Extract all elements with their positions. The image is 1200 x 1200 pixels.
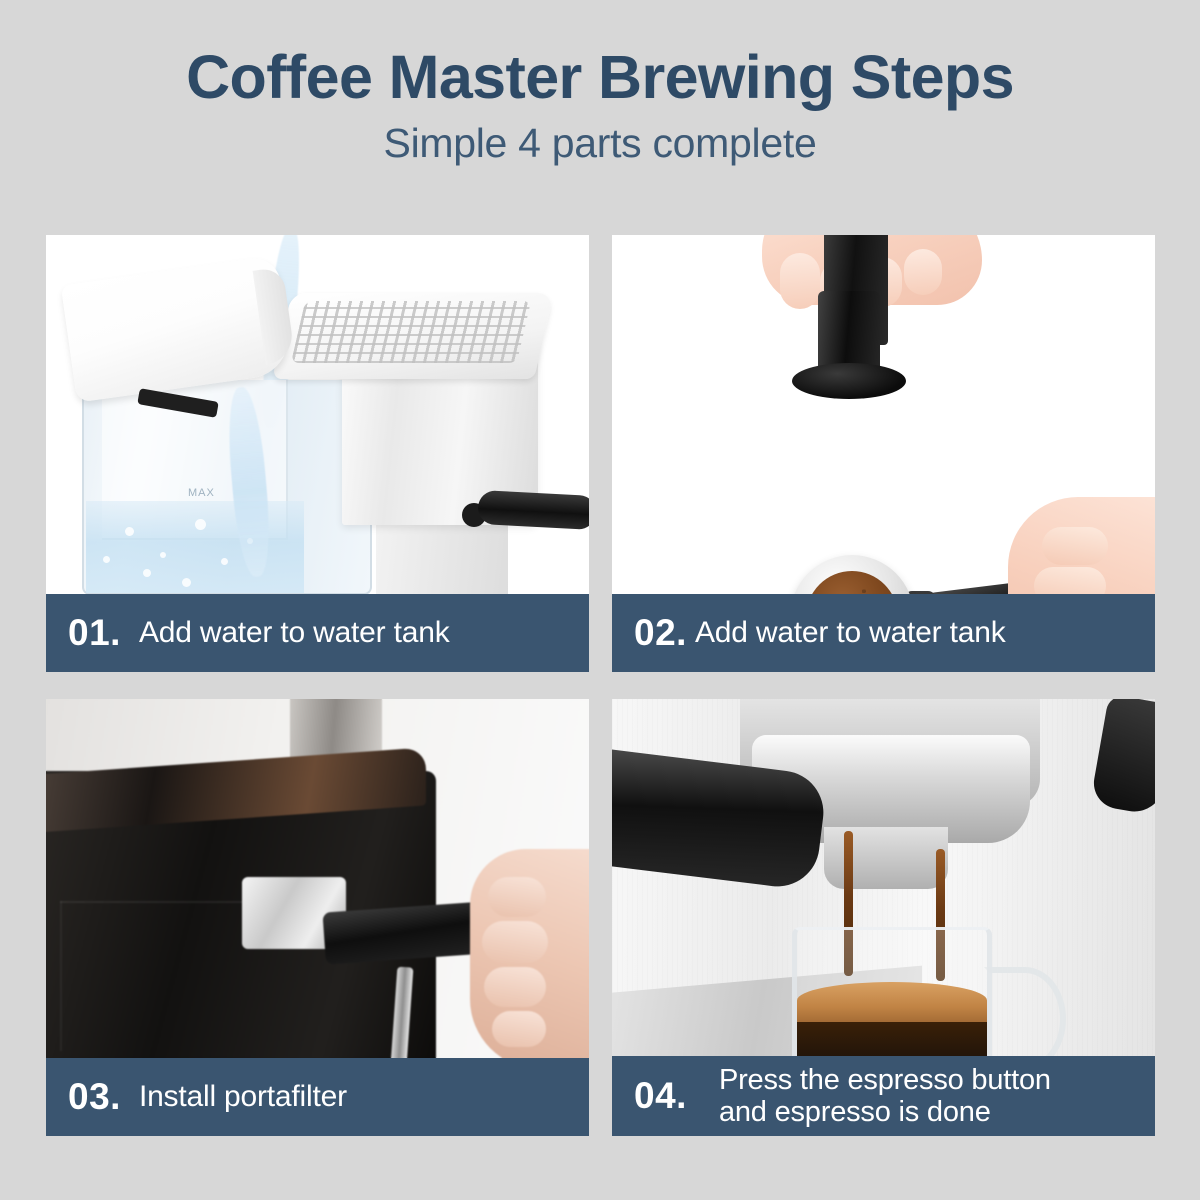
hand-installing-icon bbox=[470, 849, 589, 1058]
hand-holding-portafilter-icon bbox=[1008, 497, 1155, 594]
brewing-steps-grid: MAX bbox=[46, 235, 1155, 1160]
step-card-01[interactable]: MAX bbox=[46, 235, 589, 672]
step-number-04: 04. bbox=[634, 1075, 687, 1117]
glass-cup-icon bbox=[792, 927, 992, 1056]
step-text-03: Install portafilter bbox=[139, 1080, 347, 1114]
step-caption-04: 04. Press the espresso buttonand espress… bbox=[612, 1056, 1155, 1136]
step-card-03[interactable]: 03. Install portafilter bbox=[46, 699, 589, 1136]
step-caption-02: 02. Add water to water tank bbox=[612, 594, 1155, 672]
step-number-01: 01. bbox=[68, 612, 121, 654]
step-text-04-line1: Press the espresso button bbox=[719, 1064, 1051, 1096]
page-subtitle: Simple 4 parts complete bbox=[0, 121, 1200, 166]
step-photo-water-tank: MAX bbox=[46, 235, 589, 594]
portafilter-spout-neck-shape bbox=[824, 827, 948, 889]
step-number-02: 02. bbox=[634, 612, 687, 654]
water-body-shape bbox=[86, 501, 304, 593]
step-photo-install-portafilter bbox=[46, 699, 589, 1058]
step-number-03: 03. bbox=[68, 1076, 121, 1118]
tamper-base-icon bbox=[792, 363, 906, 399]
machine-pedestal-shape bbox=[376, 523, 508, 594]
page-header: Coffee Master Brewing Steps Simple 4 par… bbox=[0, 0, 1200, 167]
water-tank-shape: MAX bbox=[82, 380, 372, 594]
coffee-grounds-icon bbox=[806, 571, 898, 594]
max-level-label: MAX bbox=[188, 487, 215, 499]
step-text-01: Add water to water tank bbox=[139, 616, 450, 650]
step-caption-01: 01. Add water to water tank bbox=[46, 594, 589, 672]
page-title: Coffee Master Brewing Steps bbox=[0, 46, 1200, 109]
espresso-liquid-shape bbox=[797, 1022, 987, 1056]
warming-grill-icon bbox=[291, 301, 531, 363]
step-caption-03: 03. Install portafilter bbox=[46, 1058, 589, 1136]
portafilter-basket-icon bbox=[790, 555, 914, 594]
step-text-02: Add water to water tank bbox=[695, 616, 1006, 650]
step-photo-espresso-extraction bbox=[612, 699, 1155, 1056]
step-card-04[interactable]: 04. Press the espresso buttonand espress… bbox=[612, 699, 1155, 1136]
step-card-02[interactable]: 02. Add water to water tank bbox=[612, 235, 1155, 672]
step-photo-tamping bbox=[612, 235, 1155, 594]
step-text-04: Press the espresso buttonand espresso is… bbox=[719, 1064, 1051, 1129]
water-bubbles-icon bbox=[86, 501, 304, 593]
steam-wand-shape bbox=[477, 490, 589, 530]
step-text-04-line2: and espresso is done bbox=[719, 1096, 991, 1128]
